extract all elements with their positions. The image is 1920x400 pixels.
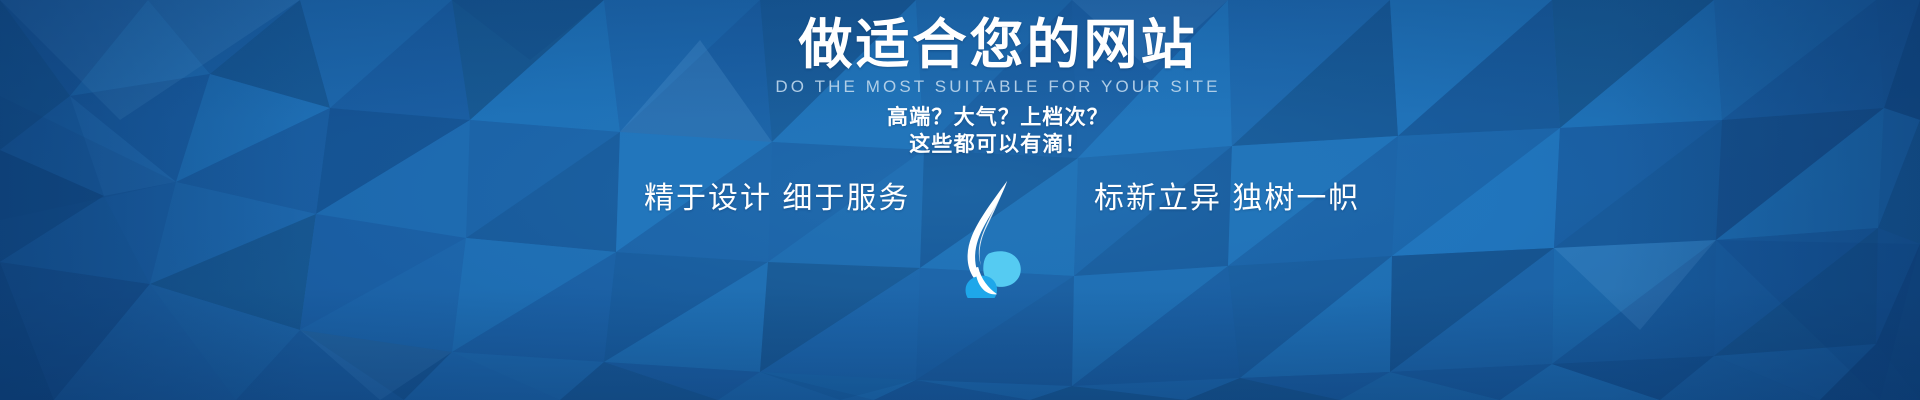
hero-banner: 做适合您的网站 DO THE MOST SUITABLE FOR YOUR SI…: [0, 0, 1920, 400]
slogan-right: 标新立异 独树一帜: [1052, 176, 1352, 222]
slogan-row: 精于设计 细于服务 标新立异 独树一帜: [76, 176, 1920, 296]
slogan-left: 精于设计 细于服务: [644, 176, 944, 222]
pitch-line-1: 高端？大气？上档次？: [76, 104, 1920, 131]
headline-block: 做适合您的网站 DO THE MOST SUITABLE FOR YOUR SI…: [0, 14, 1920, 97]
pitch-block: 高端？大气？上档次？ 这些都可以有滴！: [76, 104, 1920, 158]
page-subtitle-english: DO THE MOST SUITABLE FOR YOUR SITE: [76, 77, 1920, 97]
pitch-line-2: 这些都可以有滴！: [76, 131, 1920, 158]
page-title: 做适合您的网站: [76, 14, 1920, 76]
water-drop-leaf-logo-icon: [944, 178, 1052, 298]
